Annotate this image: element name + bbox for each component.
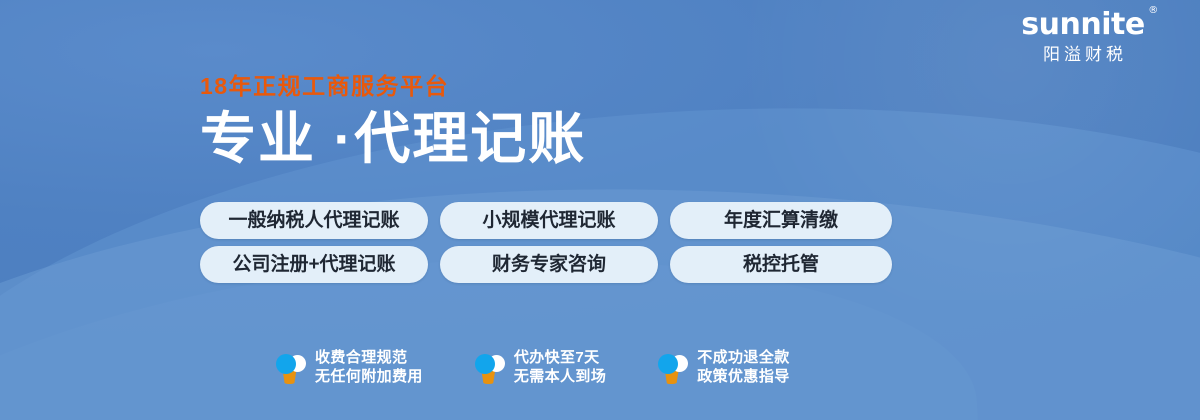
service-pill-general-taxpayer[interactable]: 一般纳税人代理记账 [200, 202, 428, 239]
service-pill-annual-settlement[interactable]: 年度汇算清缴 [670, 202, 892, 239]
feature-line-2: 无需本人到场 [514, 367, 606, 386]
badge-icon [276, 350, 306, 384]
feature-text-pricing: 收费合理规范 无任何附加费用 [315, 348, 423, 386]
brand-name-chinese: 阳溢财税 [988, 44, 1178, 66]
badge-icon-circle [475, 354, 495, 374]
service-pill-expert-consulting[interactable]: 财务专家咨询 [440, 246, 658, 283]
badge-icon-circle [276, 354, 296, 374]
service-pill-row-1: 一般纳税人代理记账 小规模代理记账 年度汇算清缴 [200, 202, 892, 239]
feature-line-2: 政策优惠指导 [697, 367, 789, 386]
promo-banner: sunnite ® 阳溢财税 18年正规工商服务平台 专业 ·代理记账 一般纳税… [0, 0, 1200, 420]
service-pill-row-2: 公司注册+代理记账 财务专家咨询 税控托管 [200, 246, 892, 283]
hero-eyebrow: 18年正规工商服务平台 [200, 72, 586, 100]
service-pill-company-registration[interactable]: 公司注册+代理记账 [200, 246, 428, 283]
hero-headline: 专业 ·代理记账 [200, 106, 586, 172]
registered-trademark-icon: ® [1148, 6, 1158, 16]
brand-logo[interactable]: sunnite ® 阳溢财税 [988, 8, 1178, 66]
feature-line-1: 代办快至7天 [514, 348, 606, 367]
service-pill-small-scale[interactable]: 小规模代理记账 [440, 202, 658, 239]
badge-icon [658, 350, 688, 384]
hero-text-block: 18年正规工商服务平台 专业 ·代理记账 [200, 72, 586, 172]
badge-icon [475, 350, 505, 384]
feature-line-1: 不成功退全款 [697, 348, 789, 367]
feature-item-speed: 代办快至7天 无需本人到场 [475, 348, 606, 386]
brand-wordmark-text: sunnite [1021, 7, 1144, 42]
service-pill-grid: 一般纳税人代理记账 小规模代理记账 年度汇算清缴 公司注册+代理记账 财务专家咨… [200, 202, 892, 290]
feature-line-2: 无任何附加费用 [315, 367, 423, 386]
service-pill-tax-control-hosting[interactable]: 税控托管 [670, 246, 892, 283]
feature-text-refund: 不成功退全款 政策优惠指导 [697, 348, 789, 386]
feature-strip: 收费合理规范 无任何附加费用 代办快至7天 无需本人到场 不成功退全款 [276, 348, 790, 386]
feature-item-refund: 不成功退全款 政策优惠指导 [658, 348, 789, 386]
feature-line-1: 收费合理规范 [315, 348, 423, 367]
feature-text-speed: 代办快至7天 无需本人到场 [514, 348, 606, 386]
brand-wordmark: sunnite ® [1021, 8, 1144, 42]
feature-item-pricing: 收费合理规范 无任何附加费用 [276, 348, 423, 386]
